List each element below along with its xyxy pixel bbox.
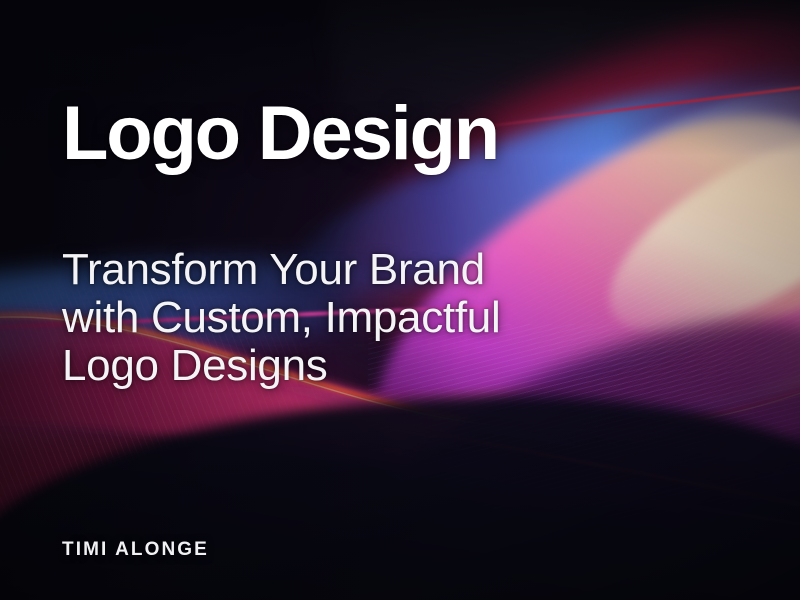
subtitle-line-2: with Custom, Impactful [62, 294, 642, 342]
subtitle-line-1: Transform Your Brand [62, 246, 642, 294]
slide-content: Logo Design Transform Your Brand with Cu… [62, 0, 762, 600]
subtitle-line-3: Logo Designs [62, 342, 642, 390]
slide-canvas: Logo Design Transform Your Brand with Cu… [0, 0, 800, 600]
slide-subtitle: Transform Your Brand with Custom, Impact… [62, 246, 642, 390]
author-byline: TIMI ALONGE [62, 539, 209, 561]
slide-title: Logo Design [62, 96, 498, 172]
